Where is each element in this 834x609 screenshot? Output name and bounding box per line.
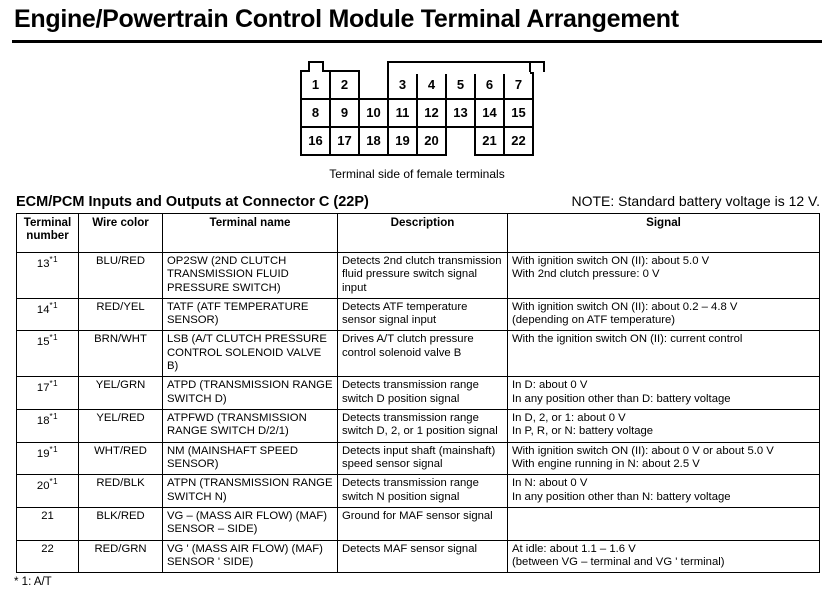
connector-pin-4[interactable]: 4 [416, 70, 447, 100]
connector-row: 1234567 [300, 72, 534, 100]
connector-body: 12345678910111213141516171819202122 [300, 72, 534, 156]
cell-wire-color: RED/GRN [79, 540, 163, 573]
cell-terminal-name: ATPFWD (TRANSMISSION RANGE SWITCH D/2/1) [163, 410, 338, 443]
connector-pin-17[interactable]: 17 [329, 126, 360, 156]
cell-signal: With ignition switch ON (II): about 0 V … [508, 442, 820, 475]
cell-terminal-number: 15*1 [17, 331, 79, 377]
table-row: 15*1BRN/WHTLSB (A/T CLUTCH PRESSURE CONT… [17, 331, 820, 377]
connector-pin-21[interactable]: 21 [474, 126, 505, 156]
cell-wire-color: YEL/RED [79, 410, 163, 443]
connector-pin-3[interactable]: 3 [387, 70, 418, 100]
table-row: 14*1RED/YELTATF (ATF TEMPERATURE SENSOR)… [17, 298, 820, 331]
cell-terminal-number: 21 [17, 508, 79, 541]
cell-signal: With the ignition switch ON (II): curren… [508, 331, 820, 377]
page-title: Engine/Powertrain Control Module Termina… [14, 6, 820, 34]
table-row: 18*1YEL/REDATPFWD (TRANSMISSION RANGE SW… [17, 410, 820, 443]
connector-pin-8[interactable]: 8 [300, 98, 331, 128]
connector-caption: Terminal side of female terminals [329, 167, 504, 181]
title-divider [12, 40, 822, 43]
cell-signal: With ignition switch ON (II): about 0.2 … [508, 298, 820, 331]
connector-pin-20[interactable]: 20 [416, 126, 447, 156]
column-header-terminal-number: Terminal number [17, 213, 79, 252]
cell-terminal-name: ATPN (TRANSMISSION RANGE SWITCH N) [163, 475, 338, 508]
table-row: 21BLK/REDVG – (MASS AIR FLOW) (MAF) SENS… [17, 508, 820, 541]
connector-pin-grid: 12345678910111213141516171819202122 [300, 72, 534, 156]
cell-wire-color: BLK/RED [79, 508, 163, 541]
connector-pin-12[interactable]: 12 [416, 98, 447, 128]
cell-terminal-number: 13*1 [17, 252, 79, 298]
connector-pin-22[interactable]: 22 [503, 126, 534, 156]
column-header-wire-color: Wire color [79, 213, 163, 252]
footnote-marker: *1 [50, 412, 59, 421]
connector-top-ledge [387, 61, 532, 74]
cell-description: Detects MAF sensor signal [338, 540, 508, 573]
cell-wire-color: BRN/WHT [79, 331, 163, 377]
connector-pin-18[interactable]: 18 [358, 126, 389, 156]
connector-pin-9[interactable]: 9 [329, 98, 360, 128]
table-row: 19*1WHT/REDNM (MAINSHAFT SPEED SENSOR)De… [17, 442, 820, 475]
cell-wire-color: WHT/RED [79, 442, 163, 475]
cell-terminal-name: VG ' (MASS AIR FLOW) (MAF) SENSOR ' SIDE… [163, 540, 338, 573]
cell-terminal-name: LSB (A/T CLUTCH PRESSURE CONTROL SOLENOI… [163, 331, 338, 377]
table-footnote: * 1: A/T [14, 576, 834, 588]
cell-description: Detects 2nd clutch transmission fluid pr… [338, 252, 508, 298]
column-header-terminal-name: Terminal name [163, 213, 338, 252]
cell-terminal-name: TATF (ATF TEMPERATURE SENSOR) [163, 298, 338, 331]
cell-terminal-number: 17*1 [17, 377, 79, 410]
connector-pin-13[interactable]: 13 [445, 98, 476, 128]
connector-notch-bottom [445, 126, 476, 156]
cell-wire-color: RED/YEL [79, 298, 163, 331]
connector-pin-16[interactable]: 16 [300, 126, 331, 156]
column-header-description: Description [338, 213, 508, 252]
table-row: 13*1BLU/REDOP2SW (2ND CLUTCH TRANSMISSIO… [17, 252, 820, 298]
table-body: 13*1BLU/REDOP2SW (2ND CLUTCH TRANSMISSIO… [17, 252, 820, 573]
connector-row: 16171819202122 [300, 128, 534, 156]
connector-pin-2[interactable]: 2 [329, 70, 360, 100]
connector-tab-right [529, 61, 545, 72]
cell-terminal-name: NM (MAINSHAFT SPEED SENSOR) [163, 442, 338, 475]
connector-pin-11[interactable]: 11 [387, 98, 418, 128]
cell-terminal-number: 14*1 [17, 298, 79, 331]
cell-signal: At idle: about 1.1 – 1.6 V(between VG – … [508, 540, 820, 573]
connector-notch-top [358, 70, 389, 100]
footnote-marker: *1 [50, 477, 59, 486]
cell-wire-color: RED/BLK [79, 475, 163, 508]
table-header: Terminal number Wire color Terminal name… [17, 213, 820, 252]
cell-terminal-name: VG – (MASS AIR FLOW) (MAF) SENSOR – SIDE… [163, 508, 338, 541]
cell-description: Detects transmission range switch D, 2, … [338, 410, 508, 443]
connector-pin-6[interactable]: 6 [474, 70, 505, 100]
cell-description: Detects ATF temperature sensor signal in… [338, 298, 508, 331]
section-heading-row: ECM/PCM Inputs and Outputs at Connector … [16, 193, 820, 210]
cell-wire-color: YEL/GRN [79, 377, 163, 410]
connector-pin-5[interactable]: 5 [445, 70, 476, 100]
cell-signal [508, 508, 820, 541]
table-row: 17*1YEL/GRNATPD (TRANSMISSION RANGE SWIT… [17, 377, 820, 410]
section-title: ECM/PCM Inputs and Outputs at Connector … [16, 194, 369, 210]
footnote-marker: *1 [50, 445, 59, 454]
cell-signal: With ignition switch ON (II): about 5.0 … [508, 252, 820, 298]
connector-pin-1[interactable]: 1 [300, 70, 331, 100]
cell-description: Detects input shaft (mainshaft) speed se… [338, 442, 508, 475]
cell-terminal-number: 20*1 [17, 475, 79, 508]
cell-description: Drives A/T clutch pressure control solen… [338, 331, 508, 377]
cell-description: Detects transmission range switch D posi… [338, 377, 508, 410]
cell-signal: In D, 2, or 1: about 0 VIn P, R, or N: b… [508, 410, 820, 443]
footnote-marker: *1 [50, 301, 59, 310]
connector-pin-14[interactable]: 14 [474, 98, 505, 128]
cell-terminal-name: OP2SW (2ND CLUTCH TRANSMISSION FLUID PRE… [163, 252, 338, 298]
footnote-marker: *1 [50, 255, 59, 264]
section-note: NOTE: Standard battery voltage is 12 V. [571, 193, 820, 209]
footnote-marker: *1 [50, 379, 59, 388]
connector-diagram: 12345678910111213141516171819202122 Term… [0, 61, 834, 181]
table-header-row: Terminal number Wire color Terminal name… [17, 213, 820, 252]
title-block: Engine/Powertrain Control Module Termina… [0, 0, 834, 34]
connector-pin-19[interactable]: 19 [387, 126, 418, 156]
connector-pin-7[interactable]: 7 [503, 70, 534, 100]
cell-terminal-number: 22 [17, 540, 79, 573]
cell-terminal-number: 18*1 [17, 410, 79, 443]
connector-row: 89101112131415 [300, 100, 534, 128]
footnote-marker: *1 [50, 333, 59, 342]
cell-description: Detects transmission range switch N posi… [338, 475, 508, 508]
table-row: 20*1RED/BLKATPN (TRANSMISSION RANGE SWIT… [17, 475, 820, 508]
cell-signal: In D: about 0 VIn any position other tha… [508, 377, 820, 410]
cell-signal: In N: about 0 VIn any position other tha… [508, 475, 820, 508]
column-header-signal: Signal [508, 213, 820, 252]
cell-wire-color: BLU/RED [79, 252, 163, 298]
connector-tab-left [308, 61, 324, 72]
cell-terminal-name: ATPD (TRANSMISSION RANGE SWITCH D) [163, 377, 338, 410]
connector-pin-10[interactable]: 10 [358, 98, 389, 128]
pinout-table: Terminal number Wire color Terminal name… [16, 213, 820, 574]
cell-terminal-number: 19*1 [17, 442, 79, 475]
table-row: 22RED/GRNVG ' (MASS AIR FLOW) (MAF) SENS… [17, 540, 820, 573]
cell-description: Ground for MAF sensor signal [338, 508, 508, 541]
connector-pin-15[interactable]: 15 [503, 98, 534, 128]
